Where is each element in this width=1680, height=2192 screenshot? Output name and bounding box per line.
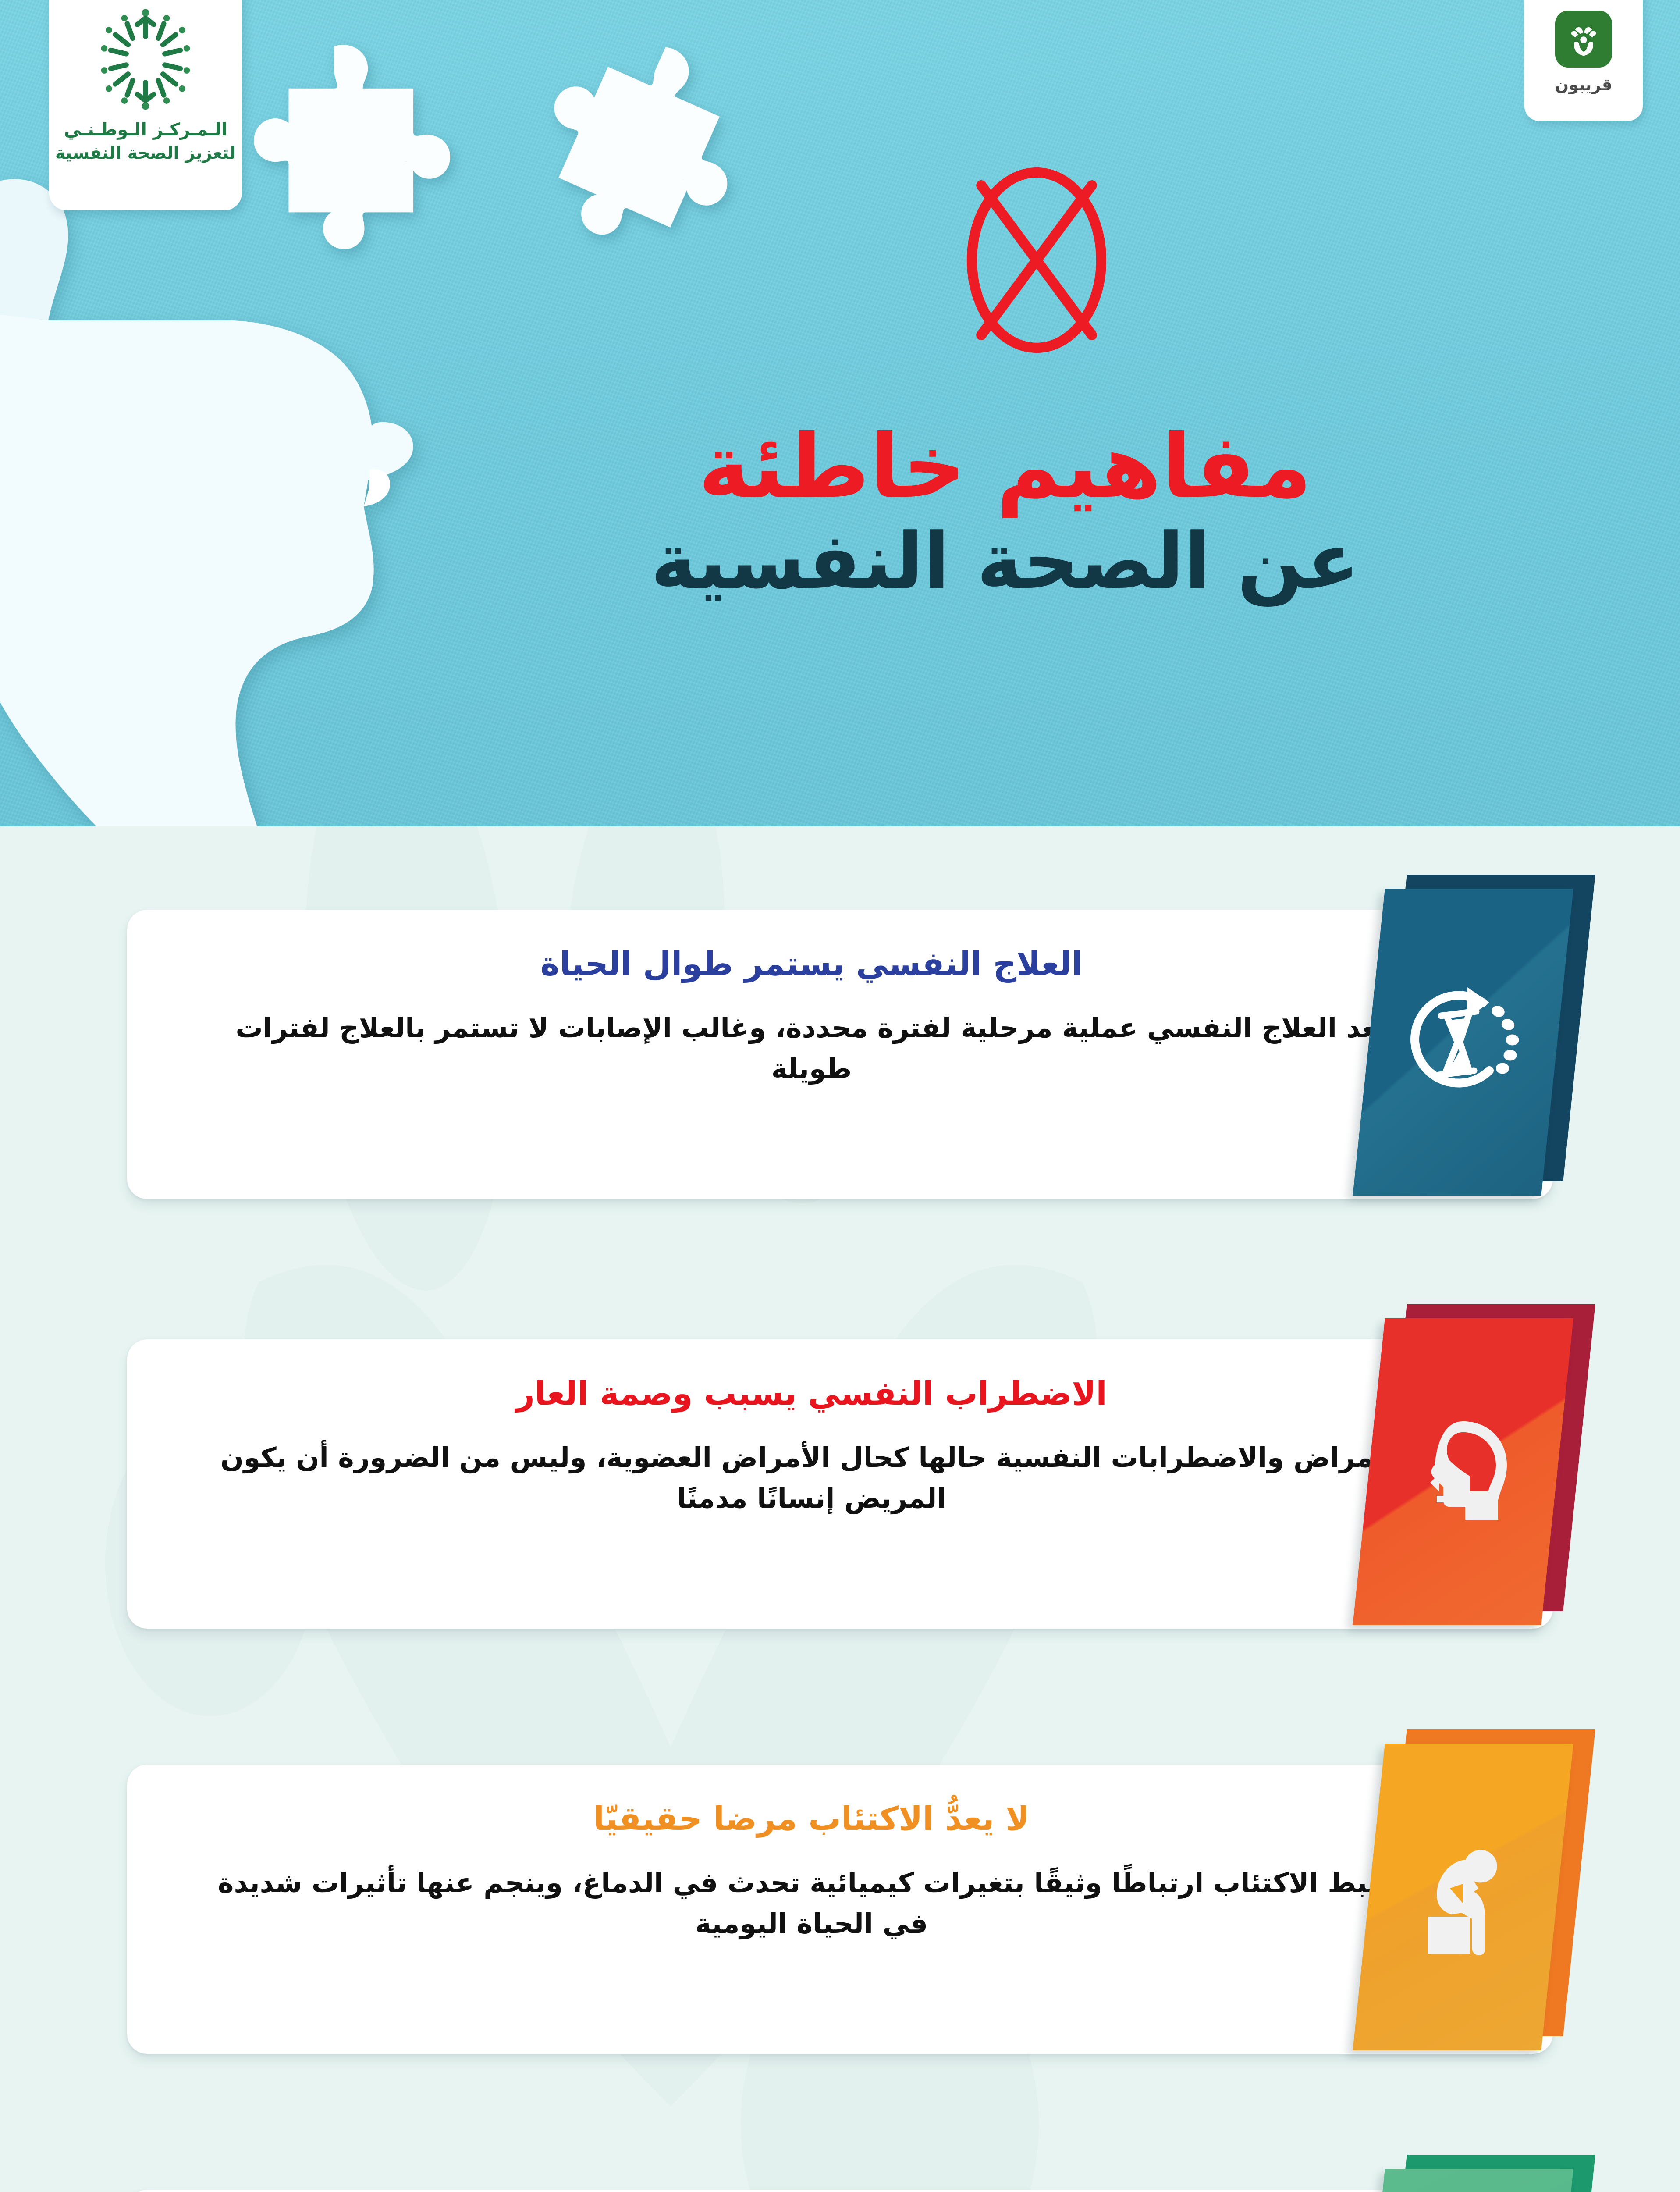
myth-card-3: لا يعدُّ الاكتئاب مرضا حقيقيّا يرتبط الا… <box>127 1765 1553 2054</box>
title-line-1: مفاهيم خاطئة <box>435 421 1575 513</box>
card-badge-1 <box>1356 875 1601 1208</box>
myth-card-1: العلاج النفسي يستمر طوال الحياة يُعد الع… <box>127 910 1553 1199</box>
card-body: الأمراض والاضطرابات النفسية حالها كحال ا… <box>202 1437 1421 1519</box>
ncmh-logo-card: الـمـركـز الـوطـنـي لتعزيز الصحة النفسية <box>49 0 242 210</box>
puzzle-piece-icon <box>539 42 754 261</box>
sad-person-sitting-icon <box>1369 1744 1557 2050</box>
card-title: الاضطراب النفسي يسبب وصمة العار <box>202 1374 1421 1414</box>
org-name-line2: لتعزيز الصحة النفسية <box>55 142 236 165</box>
poster-body: العلاج النفسي يستمر طوال الحياة يُعد الع… <box>0 826 1680 2192</box>
hourglass-refresh-icon <box>1369 889 1557 1196</box>
app-badge-label: قريبون <box>1555 75 1612 94</box>
card-title: العلاج النفسي يستمر طوال الحياة <box>202 944 1421 985</box>
card-badge-2 <box>1356 1304 1601 1637</box>
puzzle-piece-icon <box>250 39 469 263</box>
ncmh-people-circle-logo <box>95 4 196 114</box>
org-name-line1: الـمـركـز الـوطـنـي <box>55 118 236 142</box>
title-line-2: عن الصحة النفسية <box>435 519 1575 604</box>
brain-lightbulb-icon <box>1369 2169 1557 2192</box>
card-body: يُعد العلاج النفسي عملية مرحلية لفترة مح… <box>202 1007 1421 1089</box>
card-badge-3 <box>1356 1729 1601 2063</box>
card-badge-4 <box>1356 2155 1601 2192</box>
crossed-circle-prohibition-icon <box>964 167 1109 355</box>
app-badge-card[interactable]: قريبون <box>1524 0 1643 121</box>
card-title: لا يعدُّ الاكتئاب مرضا حقيقيّا <box>202 1799 1421 1840</box>
infographic-poster: الـمـركـز الـوطـنـي لتعزيز الصحة النفسية <box>0 0 1680 2192</box>
myth-card-4: تغيير نمط تفكيرك يخلصك من المرض النفسي ي… <box>127 2190 1553 2192</box>
card-row: تغيير نمط تفكيرك يخلصك من المرض النفسي ي… <box>0 2168 1680 2192</box>
qareeboon-app-icon <box>1555 11 1612 68</box>
card-row: الاضطراب النفسي يسبب وصمة العار الأمراض … <box>0 1317 1680 1668</box>
head-with-brain-icon <box>1369 1318 1557 1625</box>
card-row: لا يعدُّ الاكتئاب مرضا حقيقيّا يرتبط الا… <box>0 1743 1680 2093</box>
poster-header: الـمـركـز الـوطـنـي لتعزيز الصحة النفسية <box>0 0 1680 826</box>
myth-card-2: الاضطراب النفسي يسبب وصمة العار الأمراض … <box>127 1339 1553 1629</box>
card-body: يرتبط الاكتئاب ارتباطًا وثيقًا بتغيرات ك… <box>202 1862 1421 1944</box>
card-row: العلاج النفسي يستمر طوال الحياة يُعد الع… <box>0 888 1680 1238</box>
poster-title: مفاهيم خاطئة عن الصحة النفسية <box>435 421 1575 604</box>
